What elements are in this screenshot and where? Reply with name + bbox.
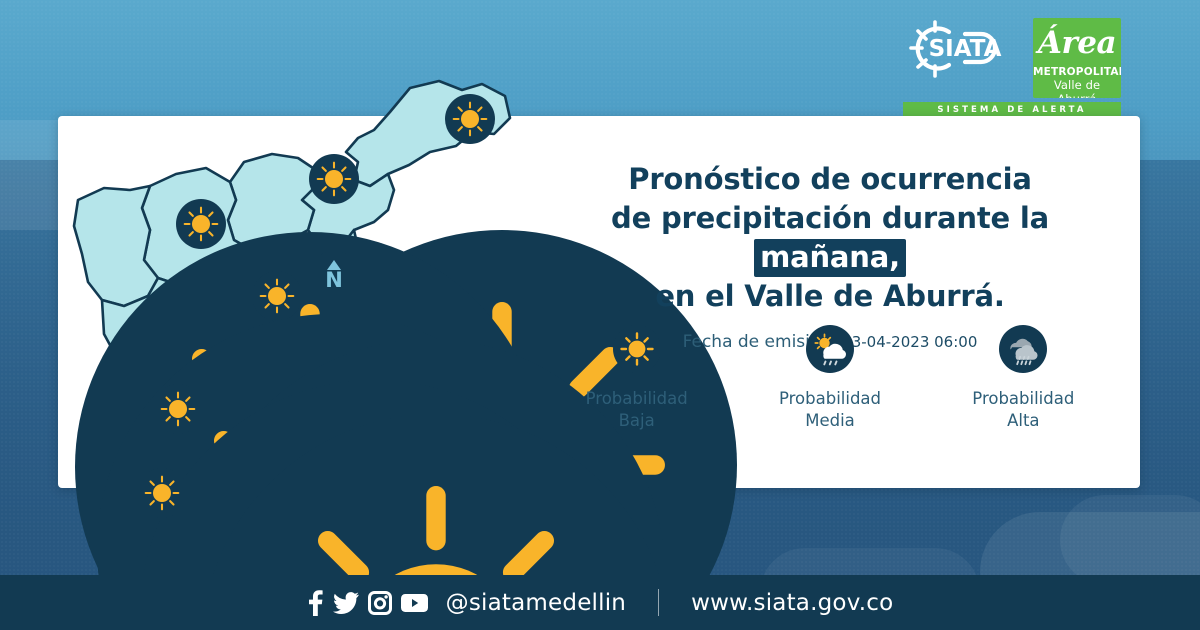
rain-cloud-icon [999,325,1047,373]
footer-divider [658,589,659,616]
legend-item-media: Probabilidad Media [745,325,915,432]
legend-item-baja: Probabilidad Baja [552,325,722,432]
logo-group: SIATA Área METROPOLITANA Valle de Aburrá… [903,18,1121,110]
social-handle[interactable]: @siatamedellin [446,590,626,616]
legend-label-line2: Alta [938,410,1108,432]
page-title: Pronóstico de ocurrencia de precipitació… [540,160,1120,316]
footer-bar: @siatamedellin www.siata.gov.co [0,575,1200,630]
legend-label-line1: Probabilidad [745,388,915,410]
title-line-2-text: de precipitación durante la [611,201,1049,235]
siata-logo: SIATA [903,18,1025,90]
title-line-2: de precipitación durante la mañana, [540,199,1120,277]
map-marker-sun[interactable] [309,154,359,204]
infographic-root: SIATA Área METROPOLITANA Valle de Aburrá… [0,0,1200,630]
area-metropolitana-logo: Área METROPOLITANA Valle de Aburrá [1033,18,1121,98]
website-url[interactable]: www.siata.gov.co [691,590,893,616]
siata-wordmark: SIATA [929,36,1002,62]
title-highlight-mañana: mañana, [754,239,906,277]
legend-label-line2: Baja [552,410,722,432]
north-arrow-icon: N [308,251,360,303]
compass-label: N [308,270,360,291]
legend-label-baja: Probabilidad Baja [552,388,722,432]
sun-rain-cloud-icon [806,325,854,373]
title-line-1: Pronóstico de ocurrencia [540,160,1120,199]
area-metropolitana-line: METROPOLITANA [1033,66,1121,78]
legend-label-alta: Probabilidad Alta [938,388,1108,432]
facebook-icon[interactable] [307,589,324,616]
legend-label-line1: Probabilidad [552,388,722,410]
sun-icon [613,325,661,373]
legend-label-line1: Probabilidad [938,388,1108,410]
map-marker-sun[interactable] [137,468,187,518]
social-icons [307,589,428,616]
map-marker-sun[interactable] [153,384,203,434]
youtube-icon[interactable] [401,593,428,613]
area-script-text: Área [1033,20,1121,66]
probability-legend: Probabilidad Baja [540,325,1120,432]
twitter-icon[interactable] [333,592,359,614]
legend-item-alta: Probabilidad Alta [938,325,1108,432]
instagram-icon[interactable] [368,591,392,615]
title-line-3: en el Valle de Aburrá. [540,277,1120,316]
area-valle-line: Valle de Aburrá [1033,78,1121,98]
legend-label-media: Probabilidad Media [745,388,915,432]
legend-label-line2: Media [745,410,915,432]
headline-panel: Pronóstico de ocurrencia de precipitació… [540,160,1120,352]
map-marker-sun[interactable] [445,94,495,144]
valle-de-aburra-map: N [58,34,528,566]
